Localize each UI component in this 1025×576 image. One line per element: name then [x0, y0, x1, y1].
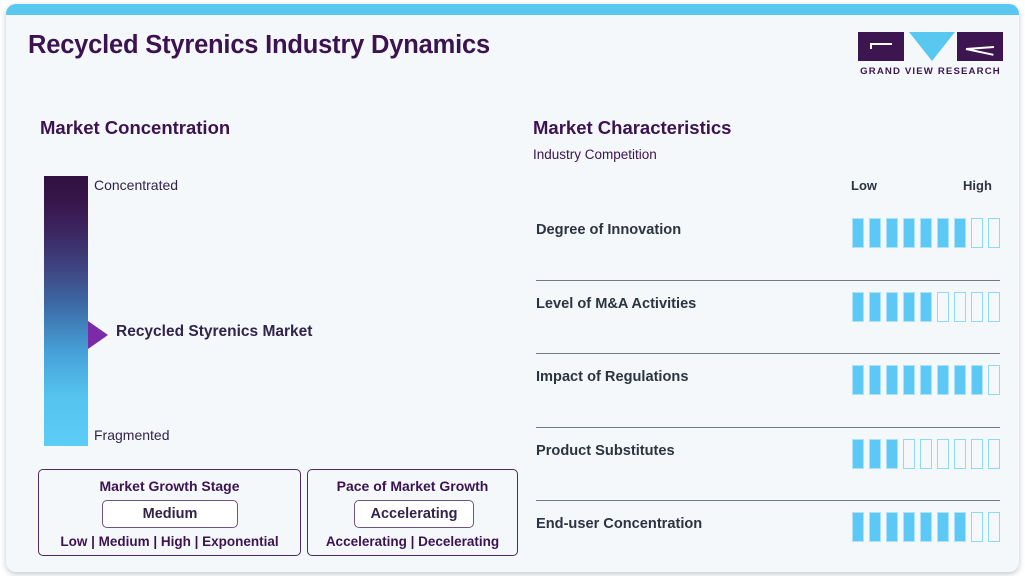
scale-label-low: Low [851, 178, 877, 193]
scale-label-high: High [963, 178, 992, 193]
rating-segment-filled [903, 365, 915, 395]
rating-segment-filled [886, 365, 898, 395]
market-growth-stage-box: Market Growth Stage Medium Low | Medium … [38, 469, 301, 556]
characteristic-rating-bars [852, 512, 1000, 542]
rating-segment-filled [852, 218, 864, 248]
market-growth-stage-value: Medium [102, 500, 238, 528]
characteristic-row: Impact of Regulations [536, 354, 1000, 428]
rating-segment-filled [869, 292, 881, 322]
rating-segment-empty [988, 365, 1000, 395]
infographic-card: Recycled Styrenics Industry Dynamics GRA… [6, 4, 1019, 572]
market-characteristics-rows: Degree of InnovationLevel of M&A Activit… [536, 207, 1000, 572]
rating-segment-filled [869, 512, 881, 542]
rating-segment-filled [886, 439, 898, 469]
rating-segment-empty [937, 292, 949, 322]
scale-label-concentrated: Concentrated [94, 177, 178, 193]
characteristic-label: Degree of Innovation [536, 222, 681, 238]
characteristic-row: End-user Concentration [536, 501, 1000, 572]
rating-segment-empty [903, 439, 915, 469]
pace-of-market-growth-box: Pace of Market Growth Accelerating Accel… [307, 469, 518, 556]
market-characteristics-heading: Market Characteristics [533, 117, 731, 139]
rating-segment-empty [988, 512, 1000, 542]
rating-segment-filled [937, 218, 949, 248]
characteristic-row: Level of M&A Activities [536, 281, 1000, 355]
rating-segment-filled [954, 512, 966, 542]
rating-segment-filled [869, 365, 881, 395]
characteristic-row: Product Substitutes [536, 428, 1000, 502]
rating-segment-filled [886, 292, 898, 322]
market-concentration-heading: Market Concentration [40, 117, 230, 139]
characteristic-rating-bars [852, 292, 1000, 322]
pace-of-market-growth-options: Accelerating | Decelerating [308, 534, 517, 549]
rating-segment-empty [971, 292, 983, 322]
market-growth-stage-options: Low | Medium | High | Exponential [39, 534, 300, 549]
pace-of-market-growth-value: Accelerating [354, 500, 474, 528]
characteristic-label: Level of M&A Activities [536, 296, 696, 312]
rating-segment-filled [852, 292, 864, 322]
characteristic-rating-bars [852, 218, 1000, 248]
rating-segment-filled [903, 512, 915, 542]
rating-segment-empty [954, 439, 966, 469]
rating-segment-filled [852, 439, 864, 469]
rating-segment-empty [971, 512, 983, 542]
rating-segment-empty [937, 439, 949, 469]
concentration-gradient-scale [44, 176, 88, 446]
pace-of-market-growth-title: Pace of Market Growth [308, 478, 517, 494]
rating-segment-filled [920, 292, 932, 322]
rating-segment-empty [988, 439, 1000, 469]
logo-rect-right-icon [957, 32, 1003, 61]
rating-segment-filled [954, 365, 966, 395]
rating-segment-empty [988, 218, 1000, 248]
rating-segment-empty [954, 292, 966, 322]
logo-rect-left-icon [858, 32, 904, 61]
rating-segment-empty [971, 439, 983, 469]
rating-segment-empty [971, 218, 983, 248]
card-top-accent-bar [6, 4, 1019, 15]
rating-segment-filled [920, 365, 932, 395]
characteristic-row: Degree of Innovation [536, 207, 1000, 281]
rating-segment-filled [852, 512, 864, 542]
scale-label-fragmented: Fragmented [94, 427, 169, 443]
rating-segment-filled [920, 512, 932, 542]
rating-segment-filled [869, 218, 881, 248]
market-characteristics-subheading: Industry Competition [533, 147, 657, 162]
rating-segment-filled [937, 365, 949, 395]
logo-marks [858, 32, 1003, 62]
grand-view-research-logo: GRAND VIEW RESEARCH [858, 32, 1003, 80]
rating-segment-empty [920, 439, 932, 469]
characteristic-label: End-user Concentration [536, 516, 702, 532]
rating-segment-filled [903, 292, 915, 322]
logo-text: GRAND VIEW RESEARCH [858, 66, 1003, 77]
rating-segment-filled [937, 512, 949, 542]
rating-segment-filled [920, 218, 932, 248]
rating-segment-filled [954, 218, 966, 248]
rating-segment-filled [971, 365, 983, 395]
rating-segment-empty [988, 292, 1000, 322]
rating-segment-filled [852, 365, 864, 395]
rating-segment-filled [903, 218, 915, 248]
rating-segment-filled [869, 439, 881, 469]
rating-segment-filled [886, 512, 898, 542]
characteristic-label: Impact of Regulations [536, 369, 688, 385]
market-position-arrow-icon [88, 321, 108, 349]
page-title: Recycled Styrenics Industry Dynamics [28, 31, 490, 60]
characteristic-rating-bars [852, 439, 1000, 469]
logo-triangle-icon [909, 32, 955, 61]
characteristic-rating-bars [852, 365, 1000, 395]
market-growth-stage-title: Market Growth Stage [39, 478, 300, 494]
market-position-label: Recycled Styrenics Market [116, 323, 312, 341]
rating-segment-filled [886, 218, 898, 248]
characteristic-label: Product Substitutes [536, 443, 675, 459]
